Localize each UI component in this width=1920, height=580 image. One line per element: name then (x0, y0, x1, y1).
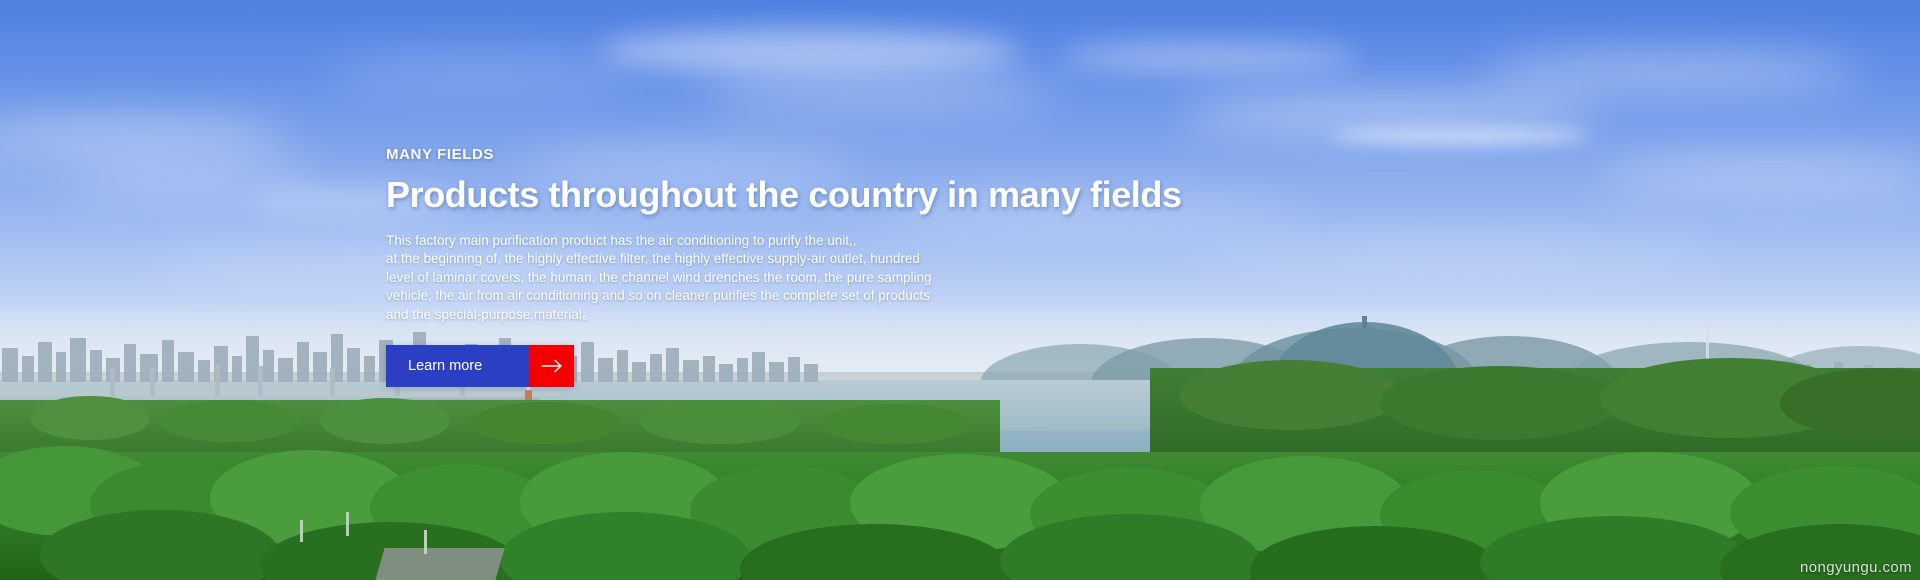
tree-cluster (820, 404, 970, 444)
bridge-pylon (215, 364, 220, 396)
boat (590, 442, 620, 448)
tree-canopy (1540, 452, 1760, 554)
waterfront-building (700, 402, 810, 416)
hero-banner: MANY FIELDS Products throughout the coun… (0, 0, 1920, 580)
communication-tower (1706, 322, 1709, 408)
hero-body-copy: This factory main purification product h… (386, 232, 1106, 325)
tree-canopy (690, 466, 880, 556)
road (375, 548, 504, 580)
tree-canopy (850, 454, 1070, 552)
learn-more-button[interactable]: Learn more (386, 345, 574, 387)
lamp-post (424, 530, 427, 554)
waterfront-building (560, 400, 690, 416)
bridge-pylon (258, 366, 263, 396)
tree-canopy (500, 512, 750, 580)
tree-canopy (210, 450, 410, 546)
pagoda-icon (1362, 316, 1367, 328)
tree-canopy (0, 446, 160, 536)
lake-water (620, 430, 1620, 500)
lake-water (0, 380, 1920, 500)
bridge-deck (0, 392, 560, 396)
body-line: and the special-purpose material。 (386, 306, 1106, 325)
tree-canopy (1380, 470, 1570, 560)
boat (256, 428, 282, 433)
tree-canopy (40, 510, 280, 580)
boat (1500, 458, 1528, 464)
lamp-post (300, 520, 303, 542)
tree-canopy (1030, 468, 1230, 560)
boat (1230, 452, 1264, 458)
waterfront-building (380, 398, 540, 416)
body-line: level of laminar covers, the human, the … (386, 269, 1106, 288)
body-line: vehicle, the air from air conditioning a… (386, 287, 1106, 306)
tree-cluster (1380, 366, 1620, 440)
hero-copy: MANY FIELDS Products throughout the coun… (386, 146, 1106, 387)
boat (900, 440, 926, 445)
city-skyline-right (1700, 352, 1920, 382)
learn-more-label[interactable]: Learn more (386, 345, 529, 387)
body-line: at the beginning of, the highly effectiv… (386, 250, 1106, 269)
hero-eyebrow: MANY FIELDS (386, 146, 1106, 163)
tree-canopy (370, 464, 550, 552)
tree-cluster (30, 396, 150, 440)
lamp-post (346, 512, 349, 536)
tree-canopy (1250, 526, 1500, 580)
tree-canopy (740, 524, 1010, 580)
body-line: This factory main purification product h… (386, 232, 1106, 251)
boat (660, 445, 682, 450)
tree-canopy (1000, 514, 1260, 580)
bridge-pylon (150, 366, 155, 396)
boat (300, 432, 320, 437)
tree-canopy (90, 462, 260, 548)
arrow-right-icon[interactable] (529, 345, 574, 387)
bridge-pylon (110, 368, 115, 396)
watermark: nongyungu.com (1800, 559, 1912, 576)
hero-headline: Products throughout the country in many … (386, 176, 1106, 214)
tree-cluster (160, 400, 300, 442)
foreground-forest (0, 452, 1920, 580)
bridge-pylon (330, 368, 335, 396)
tree-canopy (1200, 456, 1410, 556)
tree-canopy (1730, 466, 1920, 560)
chimney (525, 390, 532, 420)
tree-canopy (1480, 516, 1750, 580)
tree-canopy (520, 452, 730, 552)
